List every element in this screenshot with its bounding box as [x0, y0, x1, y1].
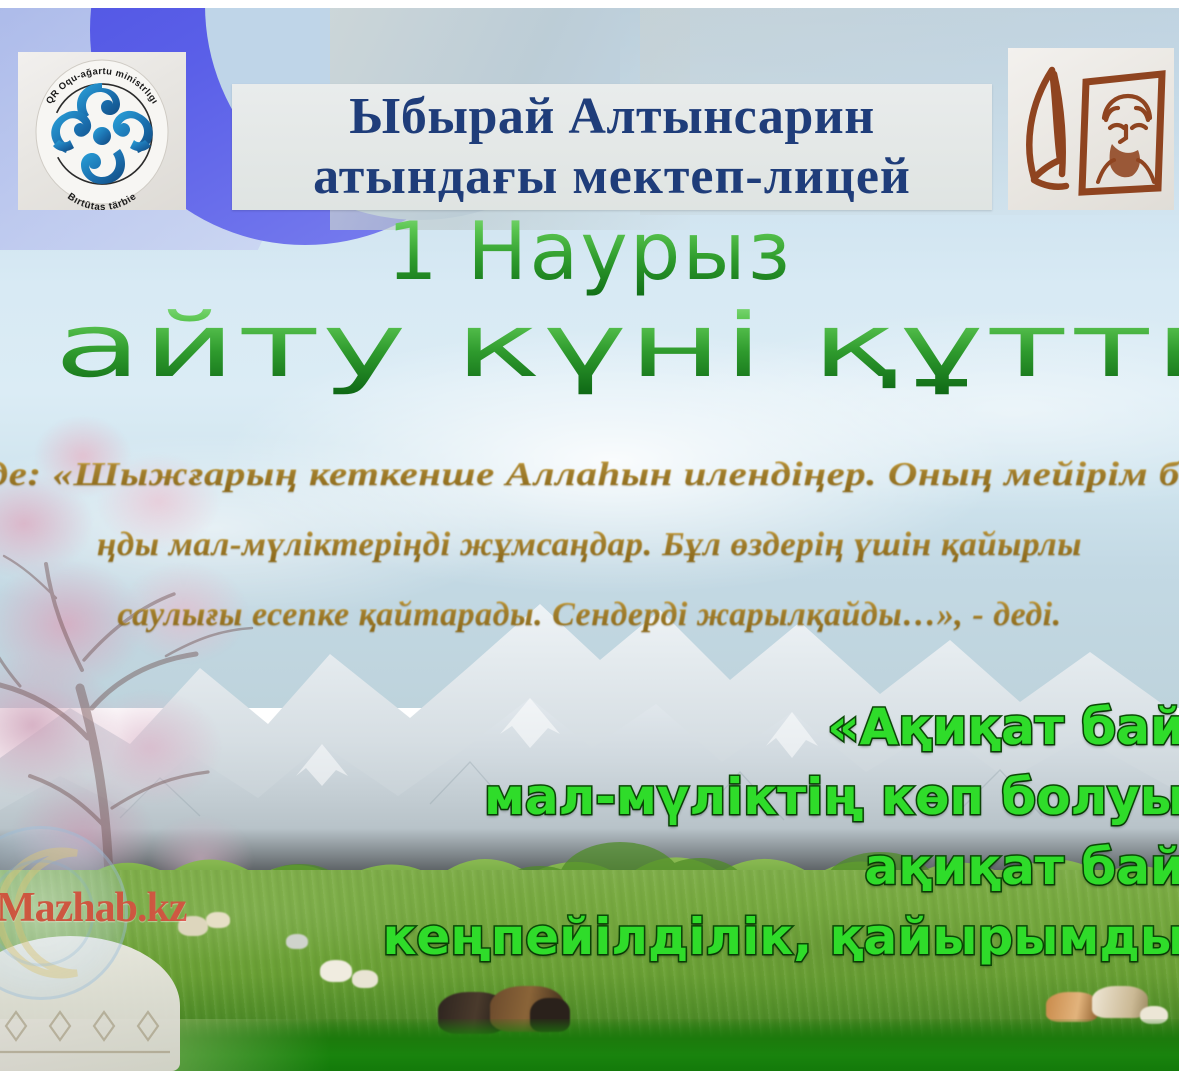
green-line-3: ақиқат бай [383, 832, 1179, 902]
quote-line-1: рімде: «Шыжғарың кеткенше Аллаһын иленді… [0, 440, 1179, 510]
school-emblem [1008, 48, 1174, 210]
yurt-ornament [0, 1008, 180, 1071]
mazhab-watermark: Mazhab.kz [0, 818, 184, 998]
nauryz-date-heading: 1 Наурыз [0, 206, 1179, 298]
greeting-heading: лғыс айту күні құтты болсы [0, 296, 1179, 396]
grazing-sheep [206, 912, 230, 928]
grazing-sheep [320, 960, 352, 982]
school-name-banner: Ыбырай Алтынсарин атындағы мектеп-лицей [232, 84, 992, 210]
green-line-2: мал-мүліктің көп болуы [383, 762, 1179, 832]
grazing-sheep [286, 934, 308, 949]
grazing-sheep [352, 970, 378, 988]
letterbox-bottom [0, 1071, 1179, 1086]
hadith-quote-gold: рімде: «Шыжғарың кеткенше Аллаһын иленді… [0, 440, 1179, 640]
hadith-quote-green: «Ақиқат бай мал-мүліктің көп болуы ақиқа… [383, 692, 1179, 972]
grazing-cow [1046, 992, 1098, 1022]
green-line-1: «Ақиқат бай [383, 692, 1179, 762]
ministry-logo: QR Oqu-ağartu ministrlıgı Bırtūtas tärbi… [18, 52, 186, 210]
quote-line-2: ңды мал-мүліктеріңді жұмсаңдар. Бұл өзде… [0, 510, 1179, 580]
watermark-text: Mazhab.kz [0, 886, 187, 930]
school-name-line2: атындағы мектеп-лицей [313, 147, 911, 207]
quote-line-3: саулығы есепке қайтарады. Сендерді жарыл… [0, 580, 1179, 650]
letterbox-top [0, 0, 1179, 8]
green-line-4: кеңпейілділік, қайырымды [383, 902, 1179, 972]
nauryz-greeting-poster: QR Oqu-ağartu ministrlıgı Bırtūtas tärbi… [0, 0, 1179, 1086]
school-name-line1: Ыбырай Алтынсарин [349, 87, 874, 147]
